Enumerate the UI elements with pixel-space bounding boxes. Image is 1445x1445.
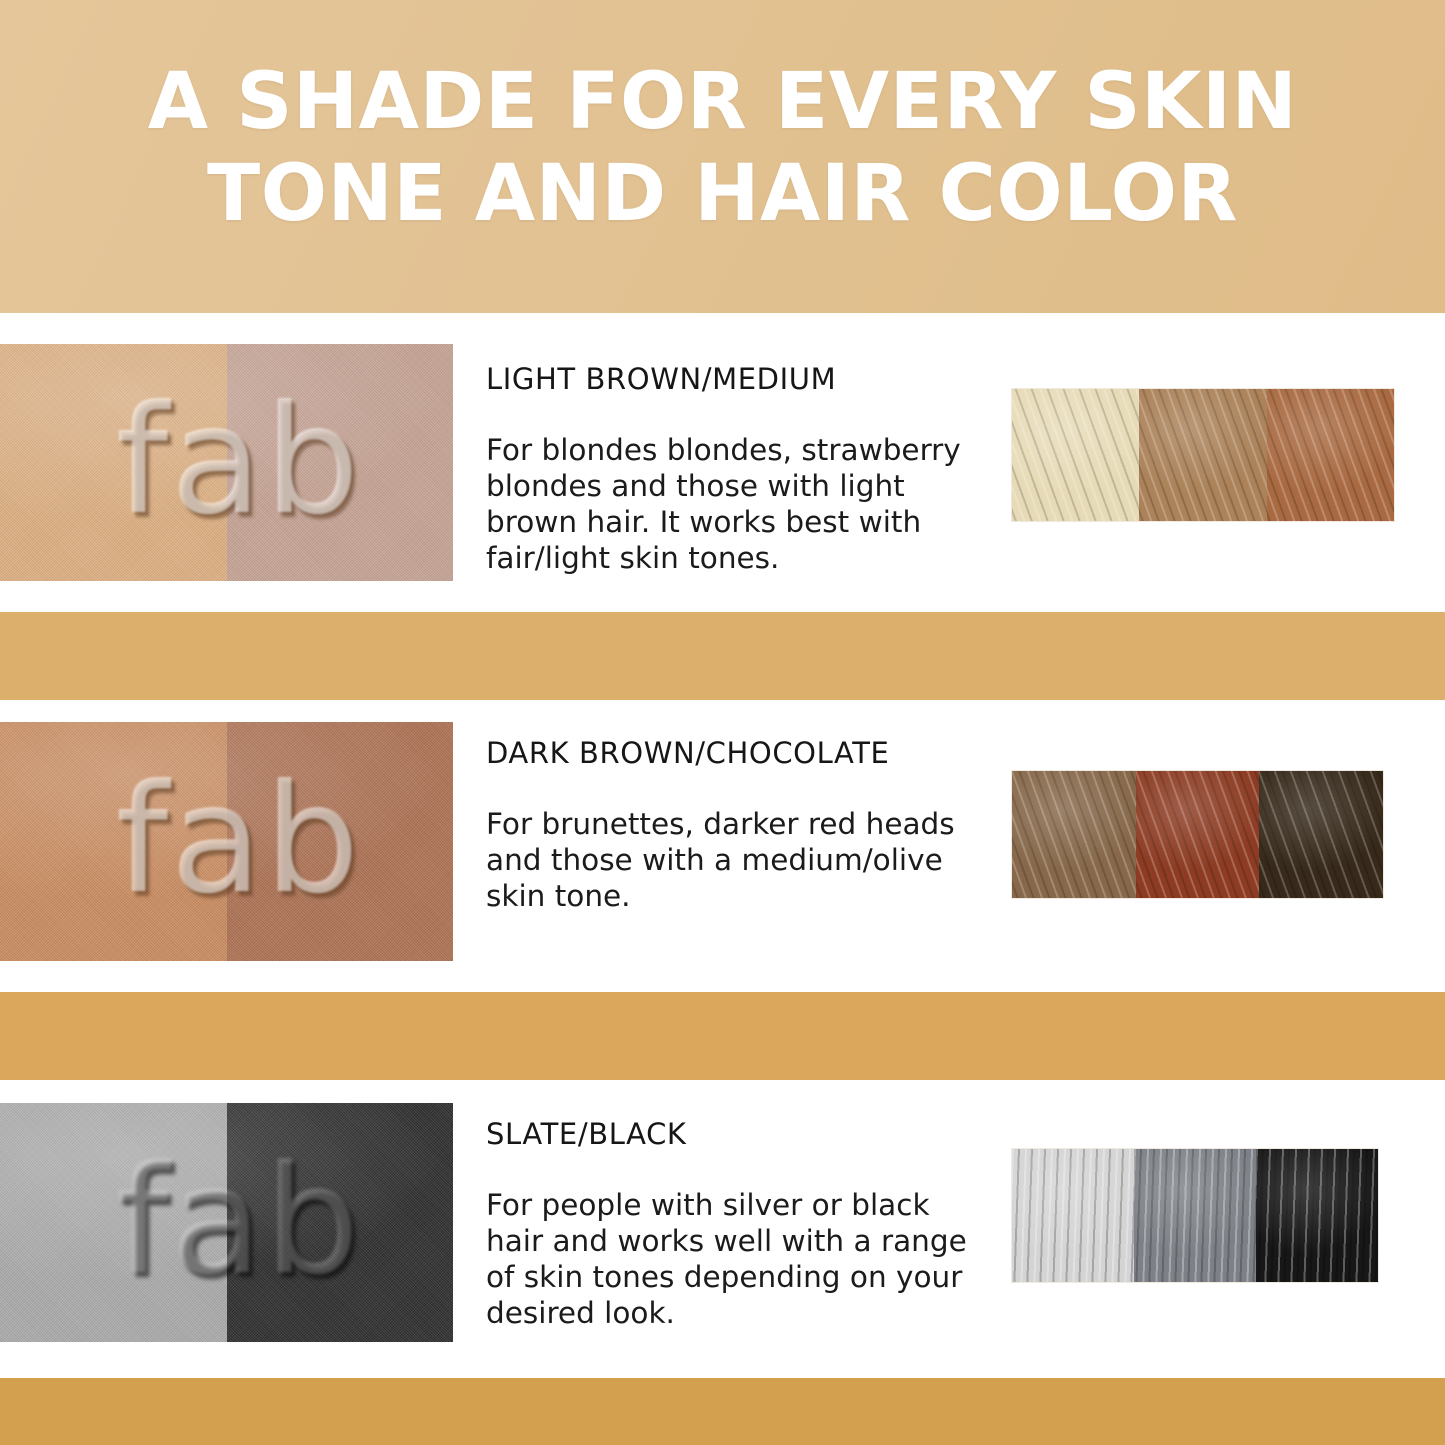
- shade-row-dark-brown-chocolate: fab DARK BROWN/CHOCOLATE For brunettes, …: [0, 722, 1445, 961]
- divider-band-3: [0, 1378, 1445, 1445]
- hair-gloss-overlay: [1267, 389, 1394, 521]
- hair-swatch-espresso-dark-brown: [1259, 771, 1383, 898]
- hair-color-swatch-strip: [1011, 1148, 1379, 1283]
- pan-half-left: [0, 722, 227, 961]
- pan-half-right: [227, 1103, 454, 1342]
- header-banner: A SHADE FOR EVERY SKIN TONE AND HAIR COL…: [0, 0, 1445, 313]
- shade-row-slate-black: fab SLATE/BLACK For people with silver o…: [0, 1103, 1445, 1342]
- shade-description: For blondes blondes, strawberry blondes …: [486, 432, 968, 576]
- shade-info: SLATE/BLACK For people with silver or bl…: [486, 1117, 976, 1331]
- shade-title: DARK BROWN/CHOCOLATE: [486, 736, 976, 770]
- shade-info: DARK BROWN/CHOCOLATE For brunettes, dark…: [486, 736, 976, 914]
- hair-gloss-overlay: [1012, 1149, 1134, 1282]
- divider-band-2: [0, 992, 1445, 1080]
- hair-gloss-overlay: [1134, 1149, 1256, 1282]
- hair-gloss-overlay: [1139, 389, 1266, 521]
- shade-title: LIGHT BROWN/MEDIUM: [486, 362, 976, 396]
- product-pan-swatch[interactable]: fab: [0, 722, 453, 961]
- shade-row-light-brown-medium: fab LIGHT BROWN/MEDIUM For blondes blond…: [0, 344, 1445, 581]
- hair-gloss-overlay: [1259, 771, 1383, 898]
- hair-swatch-pale-blonde: [1012, 389, 1139, 521]
- hair-gloss-overlay: [1012, 771, 1136, 898]
- page-title: A SHADE FOR EVERY SKIN TONE AND HAIR COL…: [143, 56, 1303, 240]
- hair-swatch-golden-blonde: [1139, 389, 1266, 521]
- product-pan-swatch[interactable]: fab: [0, 1103, 453, 1342]
- product-pan-swatch[interactable]: fab: [0, 344, 453, 581]
- hair-swatch-light-auburn-brown: [1267, 389, 1394, 521]
- hair-swatch-medium-ash-brown: [1012, 771, 1136, 898]
- shade-description: For people with silver or black hair and…: [486, 1187, 968, 1331]
- divider-band-1: [0, 612, 1445, 700]
- hair-swatch-silver-white: [1012, 1149, 1134, 1282]
- hair-color-swatch-strip: [1011, 770, 1384, 899]
- pan-half-left: [0, 1103, 227, 1342]
- hair-swatch-steel-gray: [1134, 1149, 1256, 1282]
- pan-half-right: [227, 344, 454, 581]
- hair-swatch-copper-red: [1136, 771, 1260, 898]
- hair-color-swatch-strip: [1011, 388, 1395, 522]
- hair-gloss-overlay: [1136, 771, 1260, 898]
- shade-description: For brunettes, darker red heads and thos…: [486, 806, 968, 914]
- hair-swatch-black: [1256, 1149, 1378, 1282]
- hair-gloss-overlay: [1256, 1149, 1378, 1282]
- shade-info: LIGHT BROWN/MEDIUM For blondes blondes, …: [486, 362, 976, 576]
- pan-half-left: [0, 344, 227, 581]
- pan-half-right: [227, 722, 454, 961]
- hair-gloss-overlay: [1012, 389, 1139, 521]
- shade-title: SLATE/BLACK: [486, 1117, 976, 1151]
